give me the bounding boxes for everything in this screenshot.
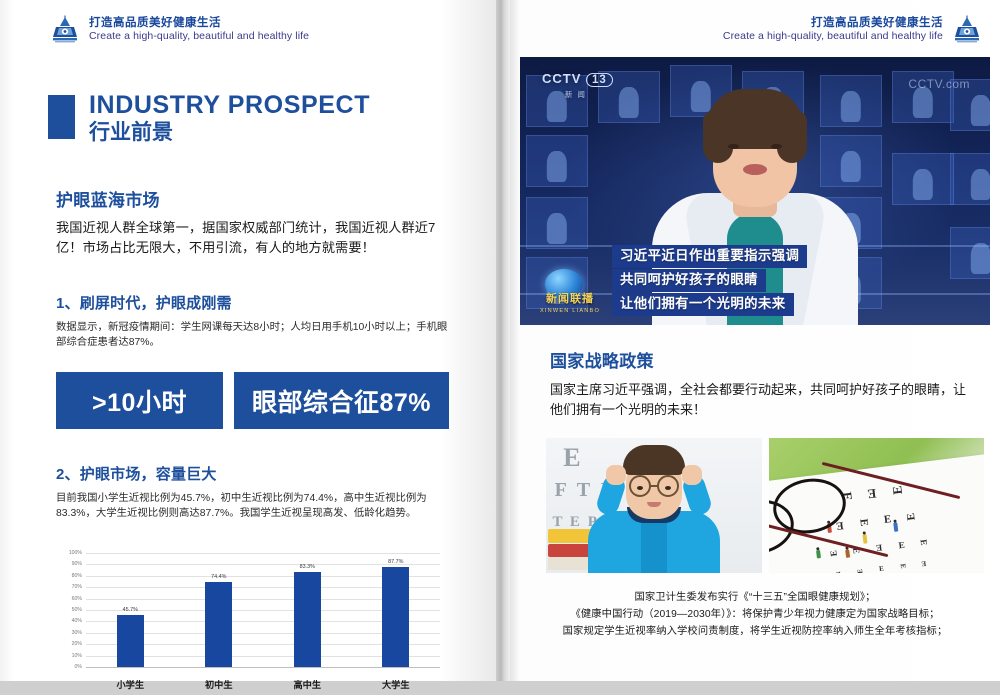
boy-glasses-bridge <box>649 485 659 487</box>
section-heading-market-capacity: 2、护眼市场，容量巨大 <box>56 463 496 484</box>
chart-y-tick-label: 90% <box>72 561 82 567</box>
chart-y-tick-label: 70% <box>72 584 82 590</box>
cctv-com-watermark: CCTV.com <box>908 75 970 91</box>
chart-x-axis-labels: 小学生初中生高中生大学生 <box>86 677 440 691</box>
boy-hand-right <box>682 465 702 485</box>
miniature-figure <box>892 522 897 531</box>
chart-bar-value-label: 45.7% <box>123 607 138 613</box>
chart-y-tick-label: 60% <box>72 596 82 602</box>
chart-x-label: 大学生 <box>352 677 441 691</box>
left-page-header: 打造高品质美好健康生活 Create a high-quality, beaut… <box>0 0 496 44</box>
policy-footnote-3: 国家规定学生近视率纳入学校问责制度，将学生近视防控率纳入师生全年考核指标； <box>528 623 982 640</box>
glasses-on-eye-chart-photo: E E E E E E E E E E E E <box>769 438 985 573</box>
cctv-com-suffix: .com <box>942 77 970 91</box>
header-brand-en-right: Create a high-quality, beautiful and hea… <box>723 30 943 43</box>
cctv-channel-sub: 新闻 <box>542 89 613 100</box>
eye-chart-letter-e: E <box>563 443 580 473</box>
xinwen-lianbo-logo: 新闻联播 XINWEN LIANBO <box>532 269 608 315</box>
headline-line-2: 共同呵护好孩子的眼睛 <box>612 269 766 292</box>
chart-plot-area: 100%90%80%70%60%50%40%30%20%10%0% 45.7%7… <box>86 553 440 667</box>
policy-heading: 国家战略政策 <box>550 347 1000 372</box>
policy-footnote-2: 《健康中国行动（2019—2030年）》：将保护青少年视力健康定为国家战略目标； <box>528 606 982 623</box>
studio-screen <box>892 153 954 205</box>
chart-y-tick-label: 100% <box>69 550 82 556</box>
right-page-header: 打造高品质美好健康生活 Create a high-quality, beaut… <box>510 0 1000 44</box>
chart-y-tick-label: 50% <box>72 607 82 613</box>
cctv-wordmark: CCTV <box>542 71 581 86</box>
miniature-figure <box>845 549 850 557</box>
stat-box-syndrome: 眼部综合征87% <box>234 372 449 429</box>
chart-bar: 74.4% <box>205 582 232 667</box>
cctv-com-main: CCTV <box>908 77 942 91</box>
page-gutter <box>496 0 510 681</box>
cctv-news-screenshot: CCTV 13 新闻 CCTV.com 新闻联播 XINWEN LIANBO 习… <box>520 57 990 325</box>
policy-paragraph: 国家主席习近平强调，全社会都要行动起来，共同呵护好孩子的眼睛，让他们拥有一个光明… <box>550 380 974 420</box>
xinwen-lianbo-en: XINWEN LIANBO <box>532 308 608 314</box>
chart-bars: 45.7%74.4%83.3%87.7% <box>86 553 440 667</box>
miniature-figure <box>862 534 867 543</box>
left-page: 打造高品质美好健康生活 Create a high-quality, beaut… <box>0 0 496 681</box>
anchor-mouth <box>743 164 767 175</box>
policy-footnote-list: 国家卫计生委发布实行《“十三五”全国眼健康规划》； 《健康中国行动（2019—2… <box>528 589 982 640</box>
chart-x-label: 小学生 <box>86 677 175 691</box>
chart-bar-cell: 74.4% <box>175 553 264 667</box>
chart-bar-cell: 83.3% <box>263 553 352 667</box>
header-brand-text: 打造高品质美好健康生活 Create a high-quality, beaut… <box>89 16 309 43</box>
chart-x-label: 高中生 <box>263 677 352 691</box>
chart-x-label: 初中生 <box>175 677 264 691</box>
header-brand-text-right: 打造高品质美好健康生活 Create a high-quality, beaut… <box>723 16 943 43</box>
chart-y-tick-label: 10% <box>72 653 82 659</box>
policy-footnote-1: 国家卫计生委发布实行《“十三五”全国眼健康规划》； <box>528 589 982 606</box>
page-title: INDUSTRY PROSPECT 行业前景 <box>48 92 496 146</box>
miniature-figure <box>815 549 820 557</box>
myopia-rate-bar-chart: 100%90%80%70%60%50%40%30%20%10%0% 45.7%7… <box>56 547 448 695</box>
section-paragraph-market-capacity: 目前我国小学生近视比例为45.7%，初中生近视比例为74.4%，高中生近视比例为… <box>56 491 454 521</box>
boy-hand-left <box>606 465 626 485</box>
boy-with-glasses-photo: E F T P T E P <box>546 438 762 573</box>
title-chinese: 行业前景 <box>89 120 370 146</box>
boy-glasses-lens-right <box>657 475 679 497</box>
chart-bar-value-label: 74.4% <box>211 574 226 580</box>
studio-screen <box>526 197 588 249</box>
stat-box-group: >10小时 眼部综合征87% <box>56 372 496 429</box>
title-accent-bar <box>48 95 75 139</box>
chart-bar: 83.3% <box>294 572 321 667</box>
right-page: 打造高品质美好健康生活 Create a high-quality, beaut… <box>510 0 1000 681</box>
studio-screen <box>950 227 990 279</box>
chart-y-tick-label: 80% <box>72 573 82 579</box>
stat-box-hours: >10小时 <box>56 372 223 429</box>
header-brand-cn-right: 打造高品质美好健康生活 <box>723 16 943 30</box>
section-paragraph-blue-ocean: 我国近视人群全球第一，据国家权威部门统计，我国近视人群近7亿！市场占比无限大，不… <box>56 218 456 258</box>
header-brand-en: Create a high-quality, beautiful and hea… <box>89 30 309 43</box>
anchor-eye-right <box>771 144 782 149</box>
anchor-hair <box>707 89 803 149</box>
headline-line-1: 习近平近日作出重要指示强调 <box>612 245 807 268</box>
boy-glasses-lens-left <box>629 475 651 497</box>
news-headline-overlay: 习近平近日作出重要指示强调 共同呵护好孩子的眼睛 让他们拥有一个光明的未来 <box>612 245 807 317</box>
photo-row: E F T P T E P <box>546 438 984 573</box>
chart-gridline <box>86 667 440 668</box>
cctv13-channel-logo: CCTV 13 新闻 <box>542 71 613 100</box>
anchor-eye-left <box>728 144 739 149</box>
chart-bar-value-label: 87.7% <box>388 559 403 565</box>
chart-bar-cell: 45.7% <box>86 553 175 667</box>
studio-screen <box>950 153 990 205</box>
xinwen-lianbo-cn: 新闻联播 <box>532 290 608 306</box>
chart-y-tick-label: 20% <box>72 641 82 647</box>
section-heading-screen-era: 1、刷屏时代，护眼成刚需 <box>56 292 496 313</box>
chart-y-tick-label: 40% <box>72 618 82 624</box>
studio-screen <box>526 135 588 187</box>
section-heading-blue-ocean: 护眼蓝海市场 <box>56 186 496 211</box>
headline-line-3: 让他们拥有一个光明的未来 <box>612 293 794 316</box>
chart-bar-value-label: 83.3% <box>300 564 315 570</box>
cctv-channel-number: 13 <box>586 73 613 87</box>
chart-bar-cell: 87.7% <box>352 553 441 667</box>
company-emblem-icon-right <box>952 14 982 44</box>
chart-bar: 45.7% <box>117 615 144 667</box>
title-english: INDUSTRY PROSPECT <box>89 92 370 119</box>
header-brand-cn: 打造高品质美好健康生活 <box>89 16 309 30</box>
chart-bar: 87.7% <box>382 567 409 667</box>
chart-y-tick-label: 30% <box>72 630 82 636</box>
brochure-spread: 打造高品质美好健康生活 Create a high-quality, beaut… <box>0 0 1000 681</box>
section-paragraph-screen-era: 数据显示，新冠疫情期间：学生网课每天达8小时；人均日用手机10小时以上；手机眼部… <box>56 320 454 350</box>
chart-y-tick-label: 0% <box>75 664 83 670</box>
company-emblem-icon <box>50 14 80 44</box>
boy-hair <box>623 445 685 475</box>
